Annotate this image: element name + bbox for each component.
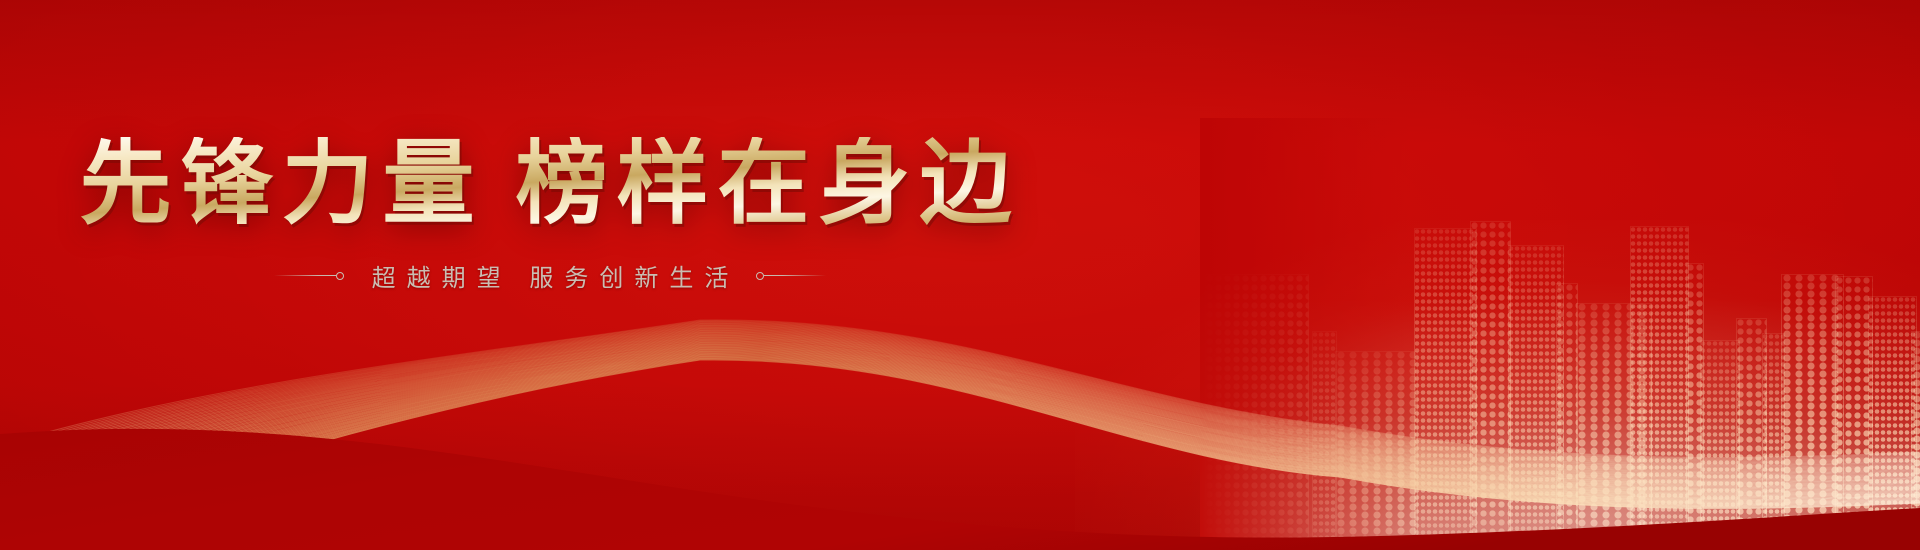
ornament-dot-right <box>756 272 764 280</box>
banner-subtitle: 超越期望 服务创新生活 <box>361 258 740 293</box>
ornament-line-left <box>274 275 336 276</box>
circle-line-ornament <box>756 272 826 280</box>
banner-title: 先锋力量 榜样在身边 <box>79 137 1020 233</box>
subtitle-row: 超越期望 服务创新生活 <box>274 258 827 293</box>
headline-block: 先锋力量 榜样在身边 超越期望 服务创新生活 <box>0 0 1100 550</box>
ornament-line-right <box>764 275 826 276</box>
promo-banner: 先锋力量 榜样在身边 超越期望 服务创新生活 <box>0 0 1920 550</box>
line-circle-ornament <box>274 272 344 280</box>
ornament-dot-left <box>336 272 344 280</box>
